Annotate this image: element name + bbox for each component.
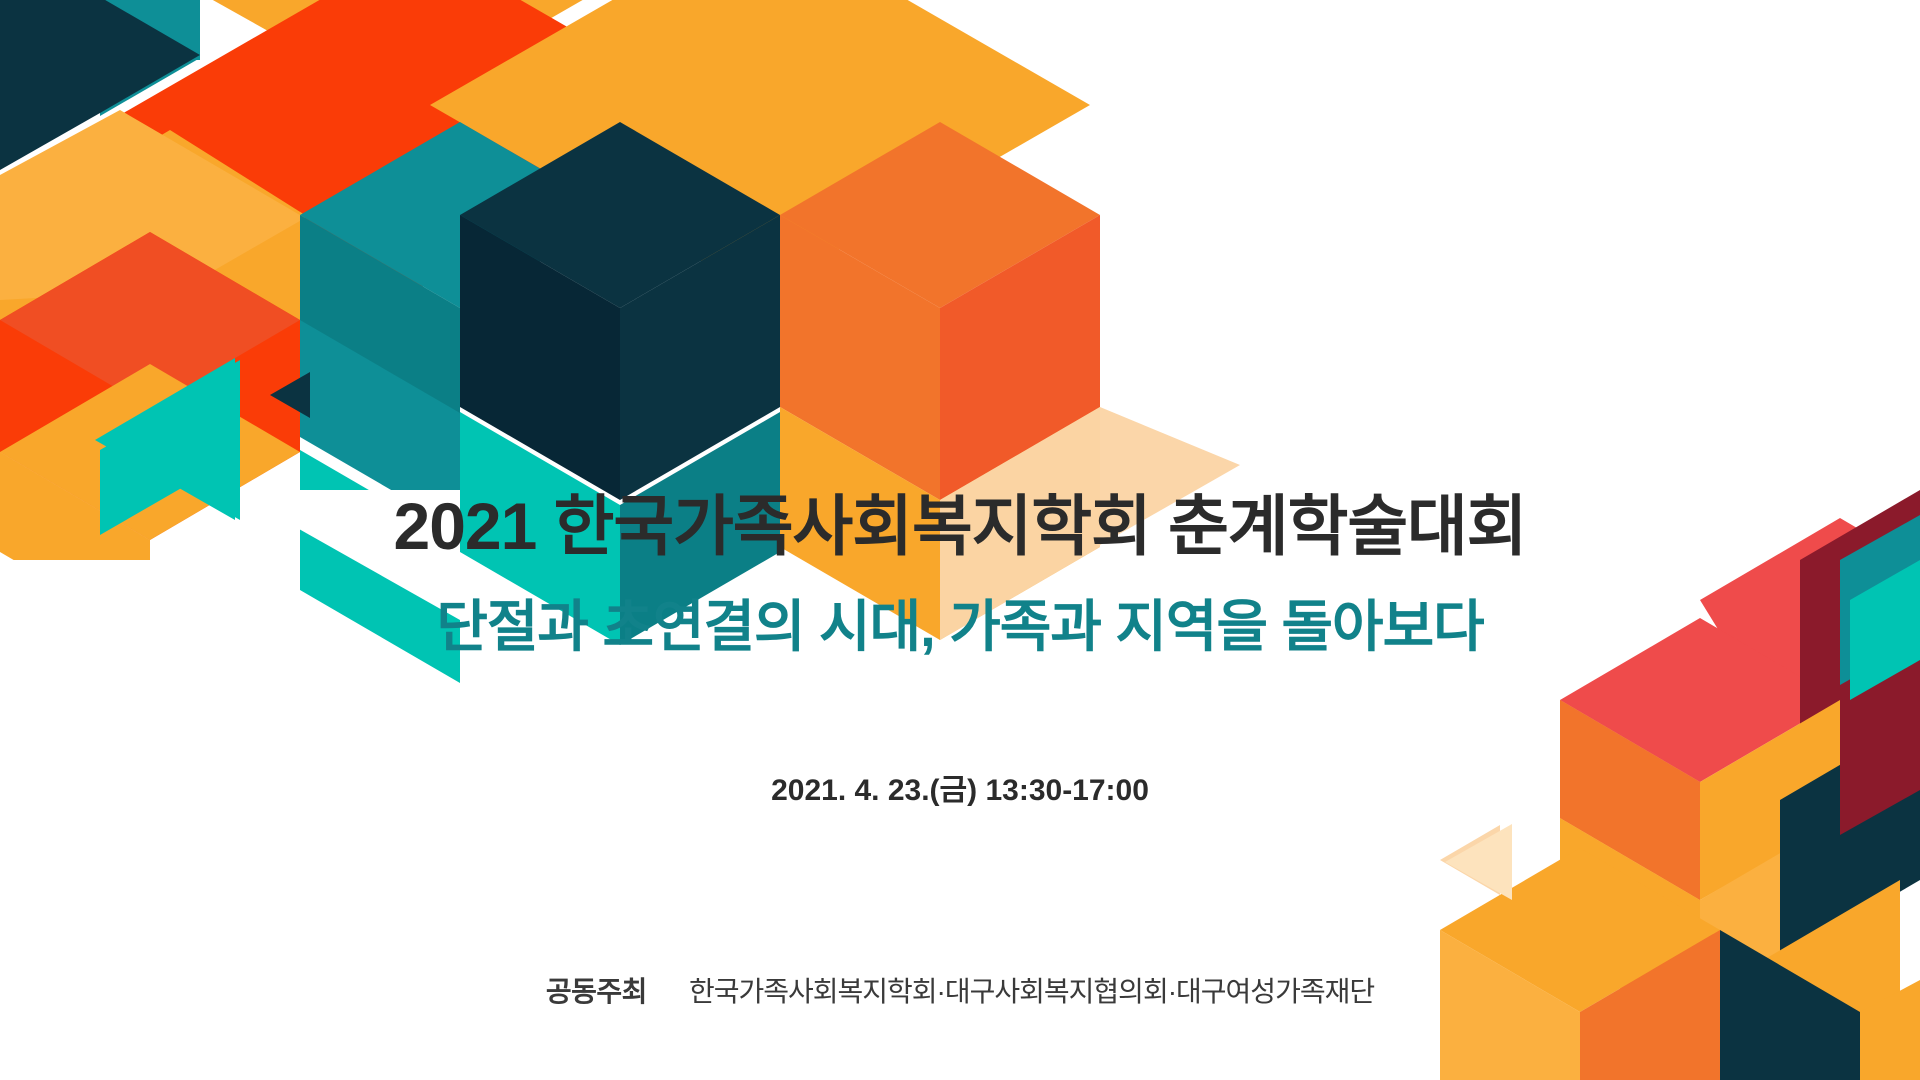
event-datetime: 2021. 4. 23.(금) 13:30-17:00 [0,765,1920,809]
poster-canvas: 2021 한국가족사회복지학회 춘계학술대회 단절과 초연결의 시대, 가족과 … [0,0,1920,1080]
page-title: 2021 한국가족사회복지학회 춘계학술대회 [0,492,1920,561]
host-label: 공동주최 [546,970,647,1010]
host-row: 공동주최 한국가족사회복지학회·대구사회복지협의회·대구여성가족재단 [0,970,1920,1010]
page-subtitle: 단절과 초연결의 시대, 가족과 지역을 돌아보다 [0,598,1920,657]
poster-text-content: 2021 한국가족사회복지학회 춘계학술대회 단절과 초연결의 시대, 가족과 … [0,0,1920,1080]
host-organizations: 한국가족사회복지학회·대구사회복지협의회·대구여성가족재단 [689,970,1374,1010]
